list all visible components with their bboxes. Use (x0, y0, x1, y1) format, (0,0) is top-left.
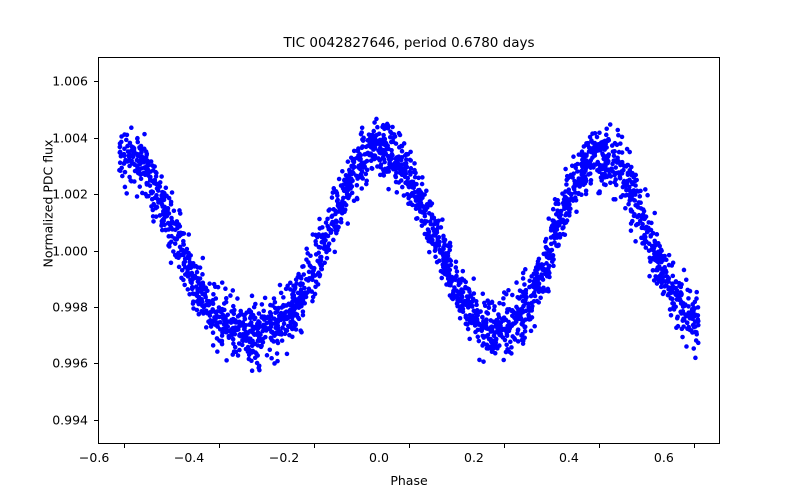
x-tick-label: 0.4 (539, 450, 599, 465)
y-tick-label: 1.002 (8, 187, 88, 202)
scatter-points-layer (99, 58, 719, 443)
x-axis-label: Phase (98, 473, 720, 488)
y-tick-label: 1.004 (8, 130, 88, 145)
x-tick-mark (219, 444, 220, 448)
chart-title: TIC 0042827646, period 0.6780 days (98, 34, 720, 52)
chart-figure: TIC 0042827646, period 0.6780 days Norma… (0, 0, 800, 500)
y-tick-label: 0.996 (8, 356, 88, 371)
x-tick-label: −0.4 (159, 450, 219, 465)
x-tick-mark (504, 444, 505, 448)
x-tick-label: 0.2 (444, 450, 504, 465)
x-tick-label: −0.6 (64, 450, 124, 465)
x-tick-mark (409, 444, 410, 448)
y-tick-label: 1.006 (8, 74, 88, 89)
x-tick-label: 0.0 (349, 450, 409, 465)
x-tick-label: −0.2 (254, 450, 314, 465)
y-tick-label: 0.994 (8, 412, 88, 427)
x-tick-mark (599, 444, 600, 448)
x-tick-mark (314, 444, 315, 448)
x-tick-mark (694, 444, 695, 448)
x-tick-label: 0.6 (634, 450, 694, 465)
y-tick-label: 1.000 (8, 243, 88, 258)
y-tick-label: 0.998 (8, 299, 88, 314)
x-tick-mark (124, 444, 125, 448)
plot-area (98, 57, 720, 444)
scatter-points (117, 117, 701, 373)
